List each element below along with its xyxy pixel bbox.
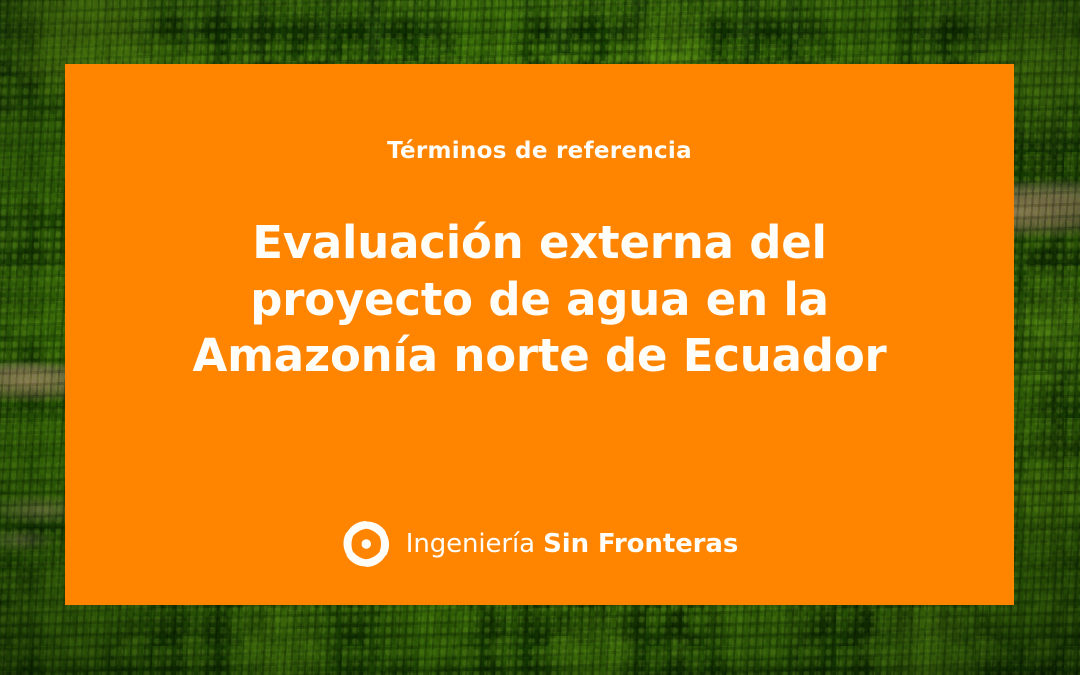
page-title-line-3: Amazonía norte de Ecuador xyxy=(192,328,886,385)
page-title-line-2: proyecto de agua en la xyxy=(192,272,886,329)
wordmark-light-part: Ingeniería xyxy=(406,529,543,559)
wordmark-bold-part: Sin Fronteras xyxy=(543,529,738,559)
page-title: Evaluación externa del proyecto de agua … xyxy=(192,215,886,385)
eyebrow-label: Términos de referencia xyxy=(387,140,692,163)
slide-canvas: Términos de referencia Evaluación extern… xyxy=(0,0,1080,675)
organization-wordmark: Ingeniería Sin Fronteras xyxy=(406,531,738,557)
title-panel: Términos de referencia Evaluación extern… xyxy=(65,64,1014,605)
organization-logo-lockup: Ingeniería Sin Fronteras xyxy=(341,519,738,569)
spiral-swirl-logo-icon xyxy=(341,519,391,569)
page-title-line-1: Evaluación externa del xyxy=(192,215,886,272)
